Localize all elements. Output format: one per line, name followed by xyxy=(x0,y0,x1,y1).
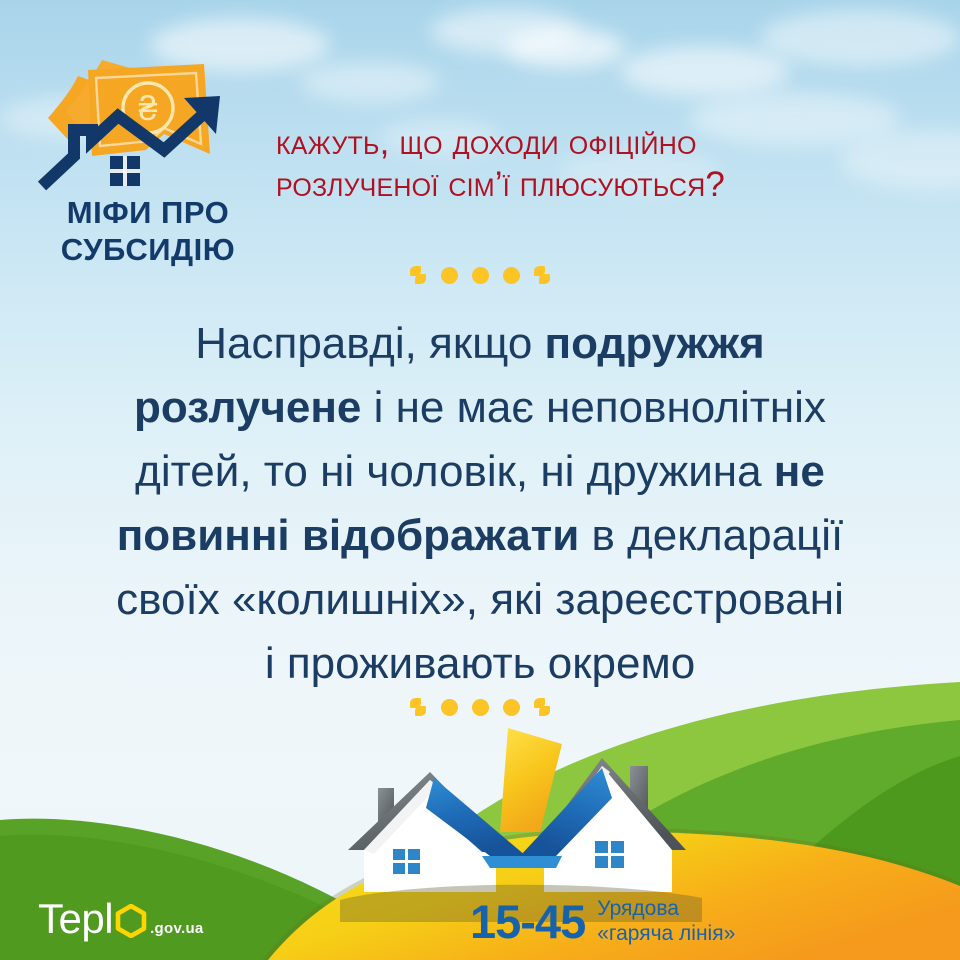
body-copy: Насправді, якщо подружжярозлучене і не м… xyxy=(40,312,920,696)
gold-wedge-icon xyxy=(500,728,562,832)
lightning-bolt-icon xyxy=(534,266,551,285)
dot-icon xyxy=(503,267,520,284)
hotline-label-line-2: «гаряча лінія» xyxy=(597,921,735,946)
hotline-block[interactable]: 15-45 Урядова «гаряча лінія» xyxy=(470,896,735,946)
logo-wordmark-line-1: МІФИ ПРО xyxy=(14,194,282,231)
lightning-bolt-icon xyxy=(534,698,551,717)
divider-ornament-top xyxy=(0,262,960,288)
poster-canvas: ₴ МІФИ ПРО СУБСИДІЮ Кажуть, що доходи оф… xyxy=(0,0,960,960)
hexagon-o-icon xyxy=(115,904,147,938)
body-emphasis: подружжя xyxy=(545,319,765,368)
body-emphasis: розлучене xyxy=(134,383,361,432)
body-text: в декларації xyxy=(579,511,843,560)
myths-about-subsidy-logo-mark: ₴ xyxy=(14,46,282,198)
teplo-wordmark: Tepl xyxy=(38,898,113,940)
cloud-decoration xyxy=(430,8,580,54)
dot-icon xyxy=(441,267,458,284)
body-line-2: розлучене і не має неповнолітніх xyxy=(40,376,920,440)
body-text: своїх «колишніх», які зареєстровані xyxy=(116,575,844,624)
dot-icon xyxy=(441,699,458,716)
body-emphasis: повинні відображати xyxy=(117,511,580,560)
body-emphasis: не xyxy=(774,447,825,496)
dot-icon xyxy=(503,699,520,716)
hryvnia-symbol-icon: ₴ xyxy=(139,90,158,128)
teplo-logo[interactable]: Tepl .gov.ua xyxy=(38,898,204,944)
lightning-bolt-icon xyxy=(410,266,427,285)
body-text: і проживають окремо xyxy=(265,639,695,688)
body-text: дітей, то ні чоловік, ні дружина xyxy=(135,447,774,496)
cloud-decoration xyxy=(300,62,440,102)
headline: Кажуть, що доходи офіційно розлученої сі… xyxy=(276,122,936,206)
body-text: Насправді, якщо xyxy=(195,319,544,368)
hotline-number: 15-45 xyxy=(470,898,585,945)
body-text: і не має неповнолітніх xyxy=(361,383,826,432)
window-icon xyxy=(110,156,140,186)
brand-logo-block: ₴ МІФИ ПРО СУБСИДІЮ xyxy=(14,46,282,274)
dot-icon xyxy=(472,699,489,716)
body-line-3: дітей, то ні чоловік, ні дружина не xyxy=(40,440,920,504)
window-icon xyxy=(592,838,626,870)
hotline-label-line-1: Урядова xyxy=(597,896,735,921)
hotline-label: Урядова «гаряча лінія» xyxy=(597,896,735,946)
cloud-decoration xyxy=(620,46,790,96)
cloud-decoration xyxy=(505,28,625,68)
two-houses-illustration xyxy=(330,722,710,922)
window-icon xyxy=(390,846,422,876)
headline-line-2: розлученої сім’ї плюсуються? xyxy=(276,164,936,206)
logo-wordmark: МІФИ ПРО СУБСИДІЮ xyxy=(14,194,282,268)
body-line-5: своїх «колишніх», які зареєстровані xyxy=(40,568,920,632)
body-line-1: Насправді, якщо подружжя xyxy=(40,312,920,376)
teplo-tld: .gov.ua xyxy=(150,920,204,937)
body-line-4: повинні відображати в декларації xyxy=(40,504,920,568)
divider-ornament-bottom xyxy=(0,694,960,720)
lightning-bolt-icon xyxy=(410,698,427,717)
body-line-6: і проживають окремо xyxy=(40,632,920,696)
chevron-base xyxy=(482,856,562,868)
headline-line-1: Кажуть, що доходи офіційно xyxy=(276,122,936,164)
dot-icon xyxy=(472,267,489,284)
cloud-decoration xyxy=(760,10,960,66)
